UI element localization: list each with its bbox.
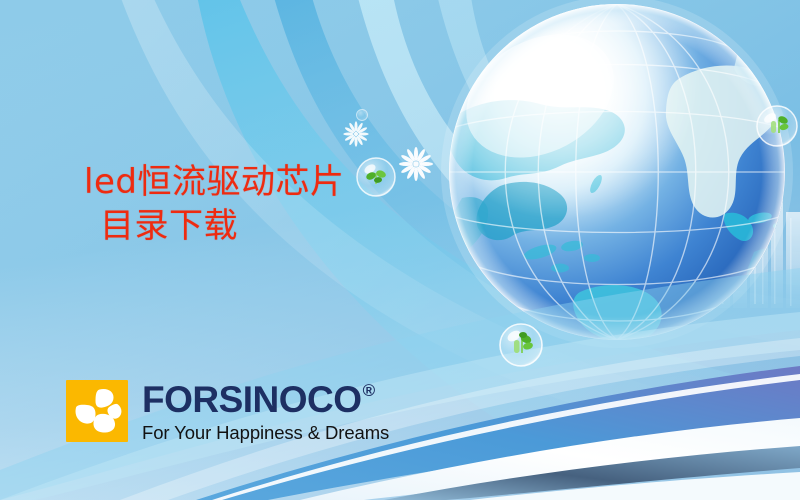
bubble-sprout-icon-2 xyxy=(500,324,542,366)
brand-tagline: For Your Happiness & Dreams xyxy=(142,424,389,443)
brand-name-text: FORSINOCO xyxy=(142,381,362,418)
brand-wordmark: FORSINOCO ® xyxy=(142,381,389,418)
bubble-small-icon xyxy=(357,110,368,121)
registered-trademark-symbol: ® xyxy=(363,382,375,399)
brand-logo-lockup: FORSINOCO ® For Your Happiness & Dreams xyxy=(66,380,389,443)
pinwheel-flower-icon xyxy=(66,380,128,442)
bubble-sprout-icon-3 xyxy=(757,106,797,146)
brand-wordblock: FORSINOCO ® For Your Happiness & Dreams xyxy=(142,380,389,443)
bubble-sprout-icon-1 xyxy=(357,158,395,196)
catalog-banner: led恒流驱动芯片 目录下载 FORSINOCO ® xyxy=(0,0,800,500)
